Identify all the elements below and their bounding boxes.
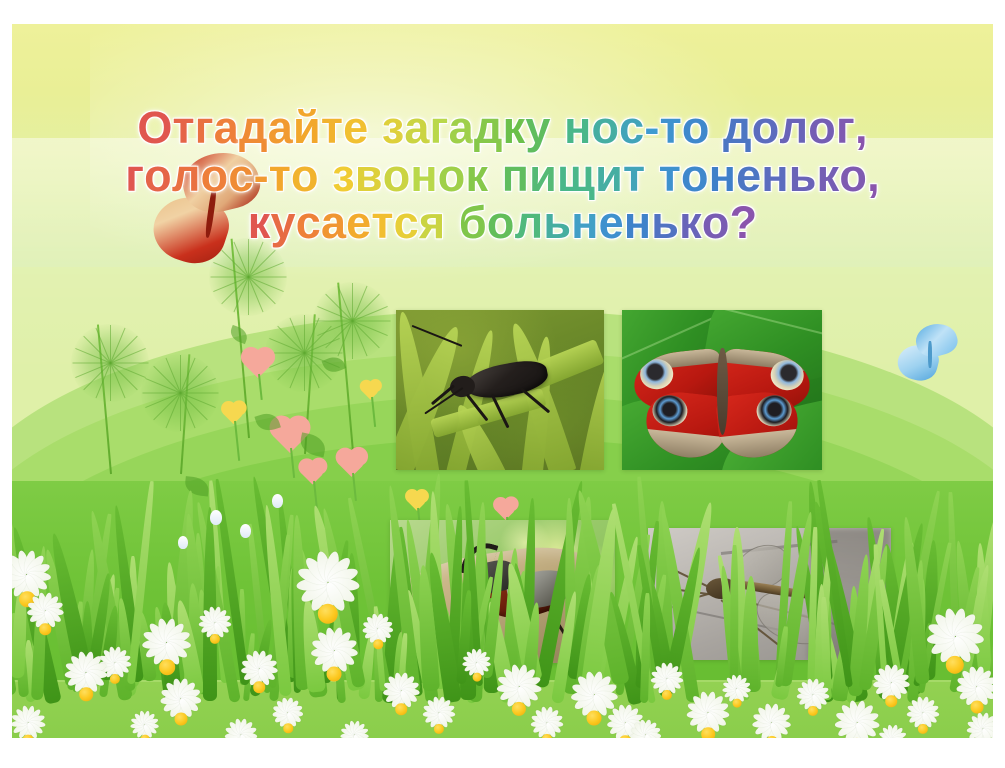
daisy-flower [66, 674, 106, 714]
daisy-flower [424, 714, 454, 738]
daisy-flower [274, 714, 302, 738]
heart-flower [278, 424, 302, 448]
daisy-flower [226, 736, 256, 738]
slide: Отгадайтезагадкунос-тодолог, голос-тозво… [0, 0, 1005, 768]
heart-flower [248, 354, 268, 374]
white-bud-flower [240, 524, 251, 538]
grass-blade [730, 545, 739, 683]
daisy-flower [384, 692, 418, 726]
white-bud-flower [210, 510, 222, 525]
daisy-flower [836, 724, 878, 738]
daisy-flower [652, 680, 682, 710]
heart-flower [226, 406, 241, 421]
heart-flower [304, 464, 321, 481]
daisy-flower [798, 696, 828, 726]
daisy-flower [958, 688, 993, 726]
daisy-flower [364, 630, 392, 658]
photo-peacock-butterfly[interactable] [622, 310, 822, 470]
daisy-flower [688, 714, 728, 738]
heart-flower [410, 494, 424, 508]
heart-flower [342, 454, 361, 473]
white-bud-flower [178, 536, 188, 549]
daisy-flower [28, 612, 62, 646]
title-line-2: голос-тозвонокпищиттоненько, [12, 152, 993, 200]
heart-flower [498, 502, 513, 517]
daisy-flower [724, 690, 750, 716]
daisy-flower [132, 726, 158, 738]
peacock-butterfly-scene [622, 310, 822, 470]
white-bud-flower [272, 494, 283, 508]
daisy-flower [754, 724, 790, 738]
daisy-flower [968, 730, 993, 738]
daisy-flower [200, 624, 230, 654]
daisy-flower [162, 700, 200, 738]
photo-longhorn-beetle[interactable] [396, 310, 604, 470]
daisy-flower [242, 670, 276, 704]
daisy-flower [532, 724, 562, 738]
longhorn-beetle-scene [396, 310, 604, 470]
daisy-flower [464, 664, 490, 690]
riddle-title: Отгадайтезагадкунос-тодолог, голос-тозво… [12, 104, 993, 247]
butterfly-right-decor [898, 324, 962, 382]
heart-flower [364, 384, 377, 397]
daisy-flower [12, 724, 44, 738]
slide-canvas: Отгадайтезагадкунос-тодолог, голос-тозво… [12, 24, 993, 738]
daisy-flower [342, 736, 368, 738]
title-line-3: кусаетсябольненько? [12, 199, 993, 247]
daisy-flower [312, 652, 356, 696]
daisy-flower [144, 644, 190, 690]
title-line-1: Отгадайтезагадкунос-тодолог, [12, 104, 993, 152]
daisy-flower [908, 714, 938, 738]
daisy-flower [874, 684, 908, 718]
daisy-flower [632, 736, 660, 738]
